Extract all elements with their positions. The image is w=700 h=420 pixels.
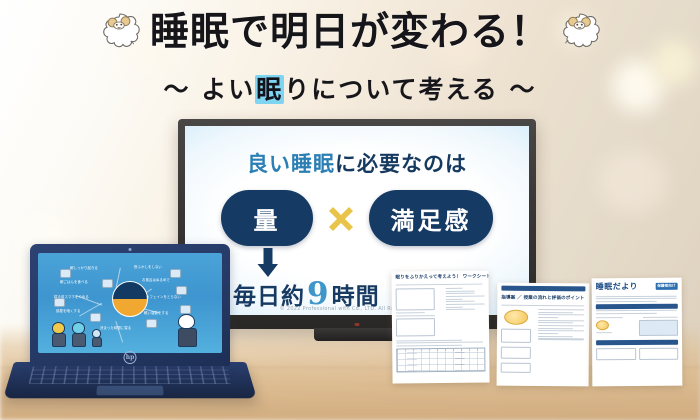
webcam-icon [129, 248, 132, 251]
subtitle-suffix: りについて考える 〜 [284, 75, 536, 104]
sheep-icon [94, 7, 146, 59]
times-icon [326, 203, 356, 233]
laptop-base [3, 362, 257, 398]
page-title: 睡眠で明日が変わる！ [150, 13, 550, 54]
tv-power-led [355, 323, 360, 326]
newsletter-badge: 保護者向け [655, 282, 678, 289]
poster-root: 睡眠で明日が変わる！ 〜 よい眠りについて考える 〜 良い睡眠に必要なのは 量 [0, 0, 700, 420]
mindmap-node-label: 夜ふかしをしない [134, 264, 162, 269]
mindmap-node-label: お風呂はぬるめで [142, 277, 170, 282]
doc-header-bar [501, 286, 585, 291]
subtitle-highlight: 眠 [255, 75, 284, 104]
lesson-plan-title: 指導案 ／ 授業の流れと評価のポイント [497, 292, 589, 304]
newsletter-title: 睡眠だより [592, 278, 642, 294]
mindmap-center-node [112, 281, 148, 317]
formula-row: 量 満足感 [185, 190, 529, 246]
highlight-blob [504, 310, 528, 325]
character-avatar [52, 322, 66, 347]
mindmap-icon [180, 305, 191, 314]
sleep-check-table [396, 348, 485, 373]
mindmap-icon [176, 286, 187, 295]
mindmap-icon [170, 269, 181, 278]
newsletter-document[interactable]: 睡眠だより 保護者向け [592, 278, 683, 387]
laptop: 朝しっかり起きる 夜ふかしをしない お風呂はぬるめで 朝ごはんを食べる 寝る前ス… [14, 244, 246, 416]
page-subtitle: 〜 よい眠りについて考える 〜 [164, 70, 537, 106]
lesson-plan-document[interactable]: 指導案 ／ 授業の流れと評価のポイント [497, 283, 590, 387]
mindmap-icon [60, 269, 71, 278]
section-bar [596, 340, 678, 345]
mindmap-node-label: 部屋を暗くする [56, 308, 80, 313]
subtitle-row: 〜 よい眠りについて考える 〜 [0, 70, 700, 106]
section-bar [596, 304, 678, 309]
slide-heading-part1: 良い睡眠 [247, 152, 335, 176]
text-line [396, 283, 483, 285]
laptop-lid: 朝しっかり起きる 夜ふかしをしない お風呂はぬるめで 朝ごはんを食べる 寝る前ス… [30, 244, 230, 366]
arrow-down-icon [257, 248, 279, 278]
slide-heading-part2: に必要なのは [335, 152, 467, 176]
mindmap-icon [90, 313, 101, 322]
mindmap-node-label: 決まった時間に寝る [100, 325, 131, 330]
character-avatar [92, 329, 102, 347]
worksheet-title: 眠りをふりかえって考えよう！ ワークシート [391, 270, 488, 282]
quantity-pill: 量 [221, 190, 313, 246]
subtitle-prefix: 〜 よい [164, 75, 256, 104]
teacher-avatar [178, 314, 197, 347]
mindmap-icon [146, 319, 157, 328]
lesson-plan-columns [497, 307, 590, 378]
title-row: 睡眠で明日が変わる！ [0, 7, 700, 59]
mindmap-node-label: 朝ごはんを食べる [60, 279, 88, 284]
worksheet-document[interactable]: 眠りをふりかえって考えよう！ ワークシート [391, 270, 489, 383]
sheep-icon [554, 7, 606, 59]
slide-heading: 良い睡眠に必要なのは [185, 148, 529, 178]
laptop-screen: 朝しっかり起きる 夜ふかしをしない お風呂はぬるめで 朝ごはんを食べる 寝る前ス… [38, 253, 222, 353]
worksheet-columns [392, 286, 490, 339]
hp-logo-icon: hp [124, 351, 137, 364]
poster-header: 睡眠で明日が変わる！ 〜 よい眠りについて考える 〜 [0, 0, 700, 110]
mindmap-node-label: カフェインをとらない [146, 294, 181, 299]
satisfaction-pill: 満足感 [369, 190, 493, 246]
tv-stand [314, 328, 400, 341]
character-avatar [72, 322, 86, 347]
mindmap-icon [102, 279, 113, 288]
laptop-trackpad[interactable] [96, 386, 163, 396]
mindmap-node-label: 軽い運動をする [144, 310, 168, 315]
mindmap-node-label: 朝しっかり起きる [70, 265, 98, 270]
mindmap-icon [54, 298, 65, 307]
laptop-keyboard[interactable] [29, 366, 232, 384]
